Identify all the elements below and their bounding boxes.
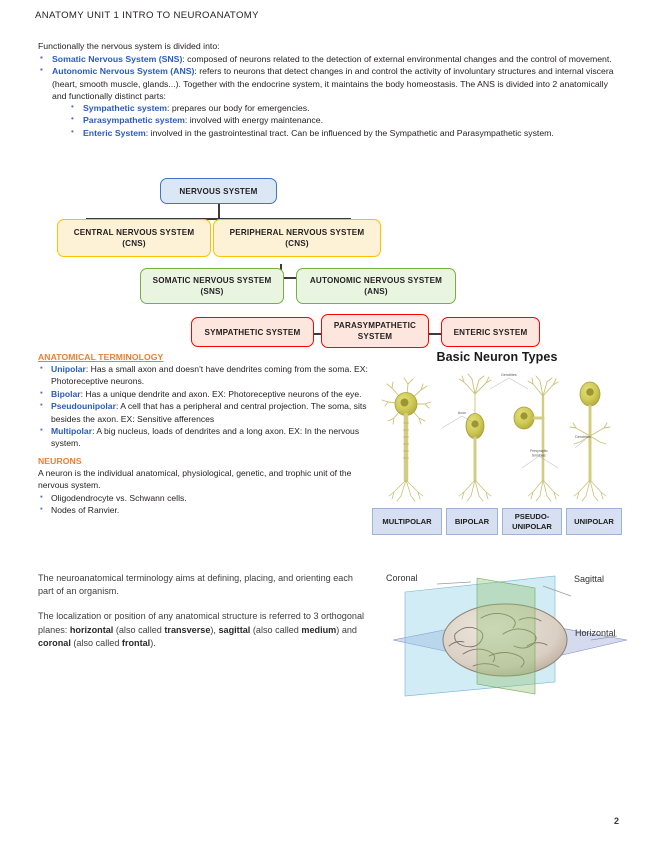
flow-node-label: NERVOUS SYSTEM <box>179 186 257 197</box>
terminology-heading: ANATOMICAL TERMINOLOGY <box>38 352 368 362</box>
paragraph-terminology-aims: The neuroanatomical terminology aims at … <box>38 572 368 598</box>
connector-line <box>218 204 220 219</box>
lower-text-section: The neuroanatomical terminology aims at … <box>38 572 368 662</box>
neuron-figure-title: Basic Neuron Types <box>372 350 622 364</box>
list-item: Autonomic Nervous System (ANS): refers t… <box>38 65 623 139</box>
list-item: Sympathetic system: prepares our body fo… <box>68 102 623 114</box>
term-unipolar: Unipolar <box>51 364 86 374</box>
label-presynaptic-1: Presynaptic <box>530 449 548 453</box>
term-autonomic: Autonomic Nervous System (ANS) <box>52 66 194 76</box>
intro-sub-bullet-list: Sympathetic system: prepares our body fo… <box>52 102 623 139</box>
neurons-heading: NEURONS <box>38 456 368 466</box>
term-multipolar: Multipolar <box>51 426 92 436</box>
flow-node-label-line2: (ANS) <box>364 286 387 297</box>
label-dendrites-top: Dendrites <box>501 373 517 377</box>
brain-planes-figure: Coronal Sagittal Horizontal <box>385 562 635 702</box>
flow-node-ans[interactable]: AUTONOMIC NERVOUS SYSTEM (ANS) <box>296 268 456 304</box>
term-enteric-text: : involved in the gastrointestinal tract… <box>146 128 554 138</box>
brain-label-horizontal: Horizontal <box>575 628 616 638</box>
label-dendrites-right: Dendrites <box>575 435 591 439</box>
neuron-label-pseudounipolar[interactable]: PSEUDO- UNIPOLAR <box>502 508 562 535</box>
label-text-line1: PSEUDO- <box>515 512 550 522</box>
nervous-system-flowchart: NERVOUS SYSTEM CENTRAL NERVOUS SYSTEM (C… <box>0 172 655 354</box>
flow-node-label-line2: (SNS) <box>200 286 223 297</box>
list-item: Multipolar: A big nucleus, loads of dend… <box>38 425 368 450</box>
term-parasympathetic-text: : involved with energy maintenance. <box>185 115 323 125</box>
term-bipolar: Bipolar <box>51 389 81 399</box>
term-parasympathetic: Parasympathetic system <box>83 115 185 125</box>
term-unipolar-text: : Has a small axon and doesn't have dend… <box>51 364 368 386</box>
list-item: Parasympathetic system: involved with en… <box>68 114 623 126</box>
flow-node-label-line2: SYSTEM <box>358 331 392 342</box>
neuron-label-bipolar[interactable]: BIPOLAR <box>446 508 498 535</box>
flow-node-label-line1: CENTRAL NERVOUS SYSTEM <box>74 227 195 238</box>
flow-node-nervous-system[interactable]: NERVOUS SYSTEM <box>160 178 277 204</box>
brain-label-coronal: Coronal <box>386 573 418 583</box>
label-text: MULTIPOLAR <box>382 517 431 527</box>
term-multipolar-text: : A big nucleus, loads of dendrites and … <box>51 426 359 448</box>
list-item: Unipolar: Has a small axon and doesn't h… <box>38 363 368 388</box>
neuron-illustration: Dendrites Axon Presynaptic terminals Den… <box>372 368 622 508</box>
document-page: ANATOMY UNIT 1 INTRO TO NEUROANATOMY Fun… <box>0 0 655 848</box>
paragraph-orthogonal-planes: The localization or position of any anat… <box>38 610 368 650</box>
intro-section: Functionally the nervous system is divid… <box>38 40 623 139</box>
label-text: BIPOLAR <box>455 517 489 527</box>
term-sympathetic-text: : prepares our body for emergencies. <box>167 103 309 113</box>
neuron-types-figure: Basic Neuron Types <box>372 350 622 550</box>
page-title: ANATOMY UNIT 1 INTRO TO NEUROANATOMY <box>35 10 259 21</box>
term-sympathetic: Sympathetic system <box>83 103 167 113</box>
flow-node-sns[interactable]: SOMATIC NERVOUS SYSTEM (SNS) <box>140 268 284 304</box>
flow-node-sympathetic[interactable]: SYMPATHETIC SYSTEM <box>191 317 314 347</box>
intro-bullet-list: Somatic Nervous System (SNS): composed o… <box>38 53 623 139</box>
flow-node-enteric[interactable]: ENTERIC SYSTEM <box>441 317 540 347</box>
neuron-label-unipolar[interactable]: UNIPOLAR <box>566 508 622 535</box>
neurons-body: A neuron is the individual anatomical, p… <box>38 467 368 492</box>
flow-node-label-line2: (CNS) <box>285 238 308 249</box>
brain-label-sagittal: Sagittal <box>574 574 604 584</box>
terminology-list: Unipolar: Has a small axon and doesn't h… <box>38 363 368 450</box>
flow-node-label-line1: PERIPHERAL NERVOUS SYSTEM <box>230 227 365 238</box>
terminology-section: ANATOMICAL TERMINOLOGY Unipolar: Has a s… <box>38 352 368 516</box>
flow-node-label-line1: ENTERIC SYSTEM <box>454 327 528 338</box>
term-somatic: Somatic Nervous System (SNS) <box>52 54 182 64</box>
flow-node-label-line1: SYMPATHETIC SYSTEM <box>205 327 301 338</box>
list-item: Enteric System: involved in the gastroin… <box>68 127 623 139</box>
list-item: Bipolar: Has a unique dendrite and axon.… <box>38 388 368 400</box>
term-enteric: Enteric System <box>83 128 146 138</box>
list-item: Somatic Nervous System (SNS): composed o… <box>38 53 623 65</box>
intro-lead: Functionally the nervous system is divid… <box>38 40 623 52</box>
term-somatic-text: : composed of neurons related to the det… <box>182 54 611 64</box>
label-axon: Axon <box>458 411 466 415</box>
page-number: 2 <box>614 816 619 826</box>
flow-node-label-line1: AUTONOMIC NERVOUS SYSTEM <box>310 275 442 286</box>
list-item: Pseudounipolar: A cell that has a periph… <box>38 400 368 425</box>
neurons-list: Oligodendrocyte vs. Schwann cells. Nodes… <box>38 492 368 517</box>
label-text: UNIPOLAR <box>574 517 614 527</box>
plane-coronal <box>477 578 535 694</box>
flow-node-label-line2: (CNS) <box>122 238 145 249</box>
list-item: Oligodendrocyte vs. Schwann cells. <box>38 492 368 504</box>
flow-node-parasympathetic[interactable]: PARASYMPATHETIC SYSTEM <box>321 314 429 348</box>
term-pseudounipolar: Pseudounipolar <box>51 401 116 411</box>
flow-node-label-line1: PARASYMPATHETIC <box>334 320 416 331</box>
list-item: Nodes of Ranvier. <box>38 504 368 516</box>
flow-node-label-line1: SOMATIC NERVOUS SYSTEM <box>153 275 272 286</box>
neuron-type-labels: MULTIPOLAR BIPOLAR PSEUDO- UNIPOLAR UNIP… <box>372 508 622 535</box>
label-presynaptic-2: terminals <box>532 454 546 458</box>
neuron-label-multipolar[interactable]: MULTIPOLAR <box>372 508 442 535</box>
flow-node-cns[interactable]: CENTRAL NERVOUS SYSTEM (CNS) <box>57 219 211 257</box>
label-text-line2: UNIPOLAR <box>512 522 552 532</box>
term-bipolar-text: : Has a unique dendrite and axon. EX: Ph… <box>81 389 362 399</box>
flow-node-pns[interactable]: PERIPHERAL NERVOUS SYSTEM (CNS) <box>213 219 381 257</box>
